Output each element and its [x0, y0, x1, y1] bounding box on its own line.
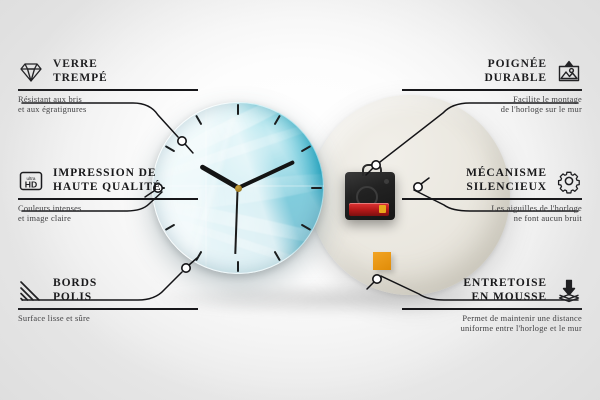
callout-header: BORDS POLIS [18, 277, 203, 304]
callout-header: ultra HD IMPRESSION DE HAUTE QUALITÉ [18, 167, 203, 194]
diagonal-lines-icon [18, 278, 44, 304]
callout-rule [402, 308, 582, 310]
callout-title: MÉCANISME SILENCIEUX [466, 167, 547, 194]
callout-rule [402, 198, 582, 200]
callout-subtitle-line1: Les aiguilles de l'horloge [397, 204, 582, 215]
ultra-hd-icon: ultra HD [18, 168, 44, 194]
battery [349, 203, 389, 216]
callout-subtitle-line1: Résistant aux bris [18, 95, 203, 106]
callout-rule [18, 198, 198, 200]
callout-header: POIGNÉE DURABLE [397, 58, 582, 85]
callout-subtitle-line2: et aux égratignures [18, 105, 203, 116]
callout-subtitle-line2: de l'horloge sur le mur [397, 105, 582, 116]
diamond-icon [18, 59, 44, 85]
callout-verre-trempe[interactable]: VERRE TREMPÉ Résistant aux bris et aux é… [18, 58, 203, 116]
callout-impression-haute-qualite[interactable]: ultra HD IMPRESSION DE HAUTE QUALITÉ Cou… [18, 167, 203, 225]
callout-title: ENTRETOISE EN MOUSSE [463, 277, 547, 304]
callout-subtitle-line1: Couleurs intenses [18, 204, 203, 215]
callout-header: MÉCANISME SILENCIEUX [397, 167, 582, 194]
callout-subtitle-line2: ne font aucun bruit [397, 214, 582, 225]
svg-text:HD: HD [25, 179, 37, 189]
callout-poignee-durable[interactable]: POIGNÉE DURABLE Facilite le montage de l… [397, 58, 582, 116]
hanging-frame-icon [556, 59, 582, 85]
callout-subtitle-line1: Surface lisse et sûre [18, 314, 203, 325]
callout-subtitle-line2: uniforme entre l'horloge et le mur [397, 324, 582, 335]
product-infographic: VERRE TREMPÉ Résistant aux bris et aux é… [0, 0, 600, 400]
arrow-down-layers-icon [556, 278, 582, 304]
callout-header: VERRE TREMPÉ [18, 58, 203, 85]
callout-subtitle-line1: Facilite le montage [397, 95, 582, 106]
callout-title: VERRE TREMPÉ [53, 58, 108, 85]
callout-bords-polis[interactable]: BORDS POLIS Surface lisse et sûre [18, 277, 203, 324]
callout-title: POIGNÉE DURABLE [484, 58, 547, 85]
mechanism-screw [384, 179, 389, 184]
callout-rule [18, 89, 198, 91]
callout-header: ENTRETOISE EN MOUSSE [397, 277, 582, 304]
callout-subtitle-line2: et image claire [18, 214, 203, 225]
callout-entretoise-en-mousse[interactable]: ENTRETOISE EN MOUSSE Permet de maintenir… [397, 277, 582, 335]
callout-rule [18, 308, 198, 310]
callout-rule [402, 89, 582, 91]
callout-mecanisme-silencieux[interactable]: MÉCANISME SILENCIEUX Les aiguilles de l'… [397, 167, 582, 225]
callout-title: BORDS POLIS [53, 277, 97, 304]
clock-mechanism [345, 172, 395, 220]
gear-icon [556, 168, 582, 194]
callout-title: IMPRESSION DE HAUTE QUALITÉ [53, 167, 162, 194]
foam-spacer [373, 252, 391, 270]
callout-subtitle-line1: Permet de maintenir une distance [397, 314, 582, 325]
